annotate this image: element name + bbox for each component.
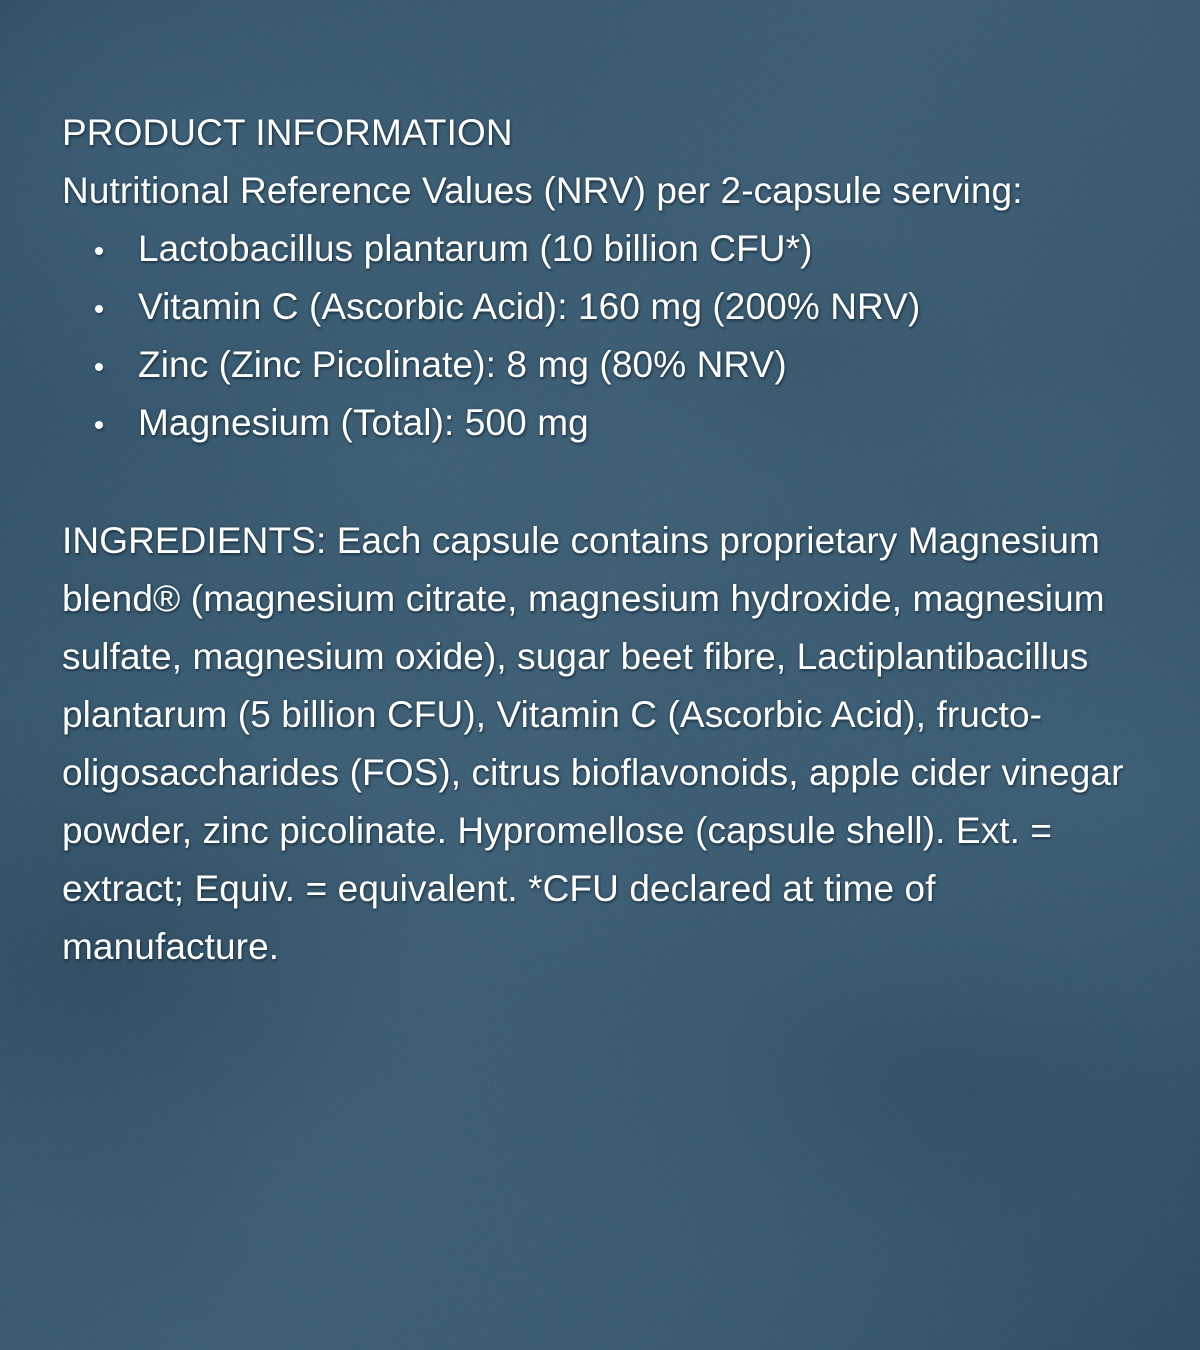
nrv-item-label: Magnesium (Total): 500 mg xyxy=(138,402,589,443)
product-info-content: PRODUCT INFORMATION Nutritional Referenc… xyxy=(62,104,1142,976)
bullet-dot-icon xyxy=(95,363,103,371)
product-information-panel: PRODUCT INFORMATION Nutritional Referenc… xyxy=(0,0,1200,1350)
nrv-item-label: Zinc (Zinc Picolinate): 8 mg (80% NRV) xyxy=(138,344,787,385)
product-information-heading: PRODUCT INFORMATION xyxy=(62,104,1142,162)
nrv-item-label: Lactobacillus plantarum (10 billion CFU*… xyxy=(138,228,813,269)
nrv-list: Lactobacillus plantarum (10 billion CFU*… xyxy=(62,220,1142,452)
list-item: Zinc (Zinc Picolinate): 8 mg (80% NRV) xyxy=(62,336,1142,394)
list-item: Magnesium (Total): 500 mg xyxy=(62,394,1142,452)
bullet-dot-icon xyxy=(95,305,103,313)
ingredients-paragraph: INGREDIENTS: Each capsule contains propr… xyxy=(62,512,1124,976)
bullet-dot-icon xyxy=(95,247,103,255)
list-item: Vitamin C (Ascorbic Acid): 160 mg (200% … xyxy=(62,278,1142,336)
bullet-dot-icon xyxy=(95,421,103,429)
nrv-item-label: Vitamin C (Ascorbic Acid): 160 mg (200% … xyxy=(138,286,920,327)
list-item: Lactobacillus plantarum (10 billion CFU*… xyxy=(62,220,1142,278)
section-spacer xyxy=(62,452,1142,512)
nrv-intro-text: Nutritional Reference Values (NRV) per 2… xyxy=(62,162,1082,220)
